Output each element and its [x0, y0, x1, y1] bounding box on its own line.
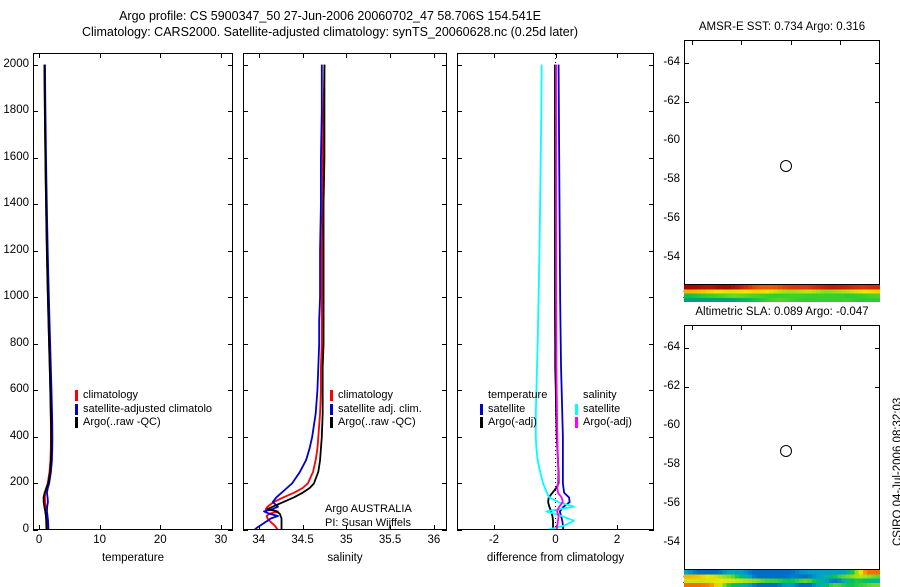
temperature-profile-xtick: [160, 525, 161, 530]
temperature-profile-yticklabel: 800: [0, 337, 29, 349]
legend-item[interactable]: Argo(-adj): [480, 416, 547, 430]
amsre-sst-map-yticklabel: -64: [0, 56, 680, 68]
temperature-panel[interactable]: 0102030020040060080010001200140016001800…: [0, 0, 900, 580]
amsre-sst-map-xtick: [692, 280, 693, 285]
difference-from-climatology-xtick-top: [494, 53, 495, 58]
salinity-profile-xlabel: salinity: [243, 552, 447, 564]
temperature-profile-ytick: [33, 158, 38, 159]
salinity-profile-ytick: [243, 204, 248, 205]
legend-heading: temperature: [480, 389, 547, 403]
temperature-profile-ytick-right: [228, 297, 233, 298]
altimetric-sla-map-ytick: [684, 543, 689, 544]
csiro-timestamp: CSIRO 04-Jul-2006 08:32:03: [892, 398, 900, 546]
legend-item[interactable]: climatology: [330, 389, 448, 403]
altimetric-sla-map-ytick-right: [875, 465, 880, 466]
temperature-profile-yticklabel: 1800: [0, 104, 29, 116]
altimetric-sla-map-xticklabel: 160: [810, 574, 870, 586]
temperature-profile-ytick-right: [228, 483, 233, 484]
temperature-profile-xtick-top: [39, 53, 40, 58]
temperature-profile-yticklabel: 1400: [0, 197, 29, 209]
salinity-profile-ytick-right: [442, 297, 447, 298]
temperature-profile-xtick: [100, 525, 101, 530]
salinity-profile-ytick: [243, 344, 248, 345]
salinity-profile-ytick-right: [442, 390, 447, 391]
salinity-profile-ytick: [243, 251, 248, 252]
legend-label: Argo(-adj): [488, 416, 537, 430]
amsre-sst-map-ytick: [684, 258, 689, 259]
legend-swatch: [330, 417, 333, 428]
salinity-profile-ytick: [243, 297, 248, 298]
temperature-profile-ytick: [33, 483, 38, 484]
legend-swatch: [480, 404, 483, 415]
series-salinity-argo-adj-: [556, 65, 563, 529]
salinity-profile-ytick-right: [442, 158, 447, 159]
series-argo-raw-qc-: [44, 65, 52, 529]
salinity-profile-ytick: [243, 65, 248, 66]
difference-from-climatology-xticklabel: 2: [587, 534, 647, 546]
salinity-profile-ytick: [243, 530, 248, 531]
temperature-profile-xtick: [221, 525, 222, 530]
altimetric-sla-map-ytick: [684, 387, 689, 388]
temperature-profile-yticklabel: 1200: [0, 244, 29, 256]
difference-from-climatology-ytick-right: [649, 297, 654, 298]
amsre-sst-map-xticklabel: 150: [711, 289, 771, 301]
temperature-profile-xtick-top: [100, 53, 101, 58]
difference-from-climatology-ytick: [457, 390, 462, 391]
difference-from-climatology-ytick-right: [649, 390, 654, 391]
amsre-sst-map-xtick-top: [692, 40, 693, 45]
temperature-profile-yticklabel: 1600: [0, 151, 29, 163]
legend-heading: salinity: [575, 389, 632, 403]
title-line-2: Climatology: CARS2000. Satellite-adjuste…: [0, 24, 660, 40]
legend-swatch: [75, 417, 78, 428]
argo-credit-line1: Argo AUSTRALIA: [325, 503, 445, 517]
temperature-profile-ytick: [33, 251, 38, 252]
legend-label: Argo(..raw -QC): [83, 416, 161, 430]
salinity-profile-ytick-right: [442, 437, 447, 438]
temperature-profile-plot-area: [34, 54, 232, 529]
altimetric-sla-map-ytick: [684, 465, 689, 466]
salinity-profile-legend: climatologysatellite adj. clim.Argo(..ra…: [330, 389, 448, 430]
amsre-sst-map-title: AMSR-E SST: 0.734 Argo: 0.316: [644, 21, 900, 33]
temperature-profile-xtick-top: [160, 53, 161, 58]
amsre-sst-map-xtick-top: [840, 40, 841, 45]
salinity-profile-ytick-right: [442, 111, 447, 112]
salinity-profile-xticklabel: 34: [229, 534, 289, 546]
altimetric-sla-map-yticklabel: -54: [0, 536, 680, 548]
sla-map-panel[interactable]: 145150155160-54-56-58-60-62-64Altimetric…: [0, 0, 900, 580]
temperature-profile-xticklabel: 20: [130, 534, 190, 546]
altimetric-sla-map-xtick-top: [840, 325, 841, 330]
amsre-sst-map-xtick: [791, 280, 792, 285]
amsre-sst-map-ytick: [684, 63, 689, 64]
difference-from-climatology-ytick-right: [649, 251, 654, 252]
legend-heading-label: temperature: [488, 389, 547, 403]
series-salinity-satellite: [536, 65, 574, 529]
salinity-profile-ytick: [243, 158, 248, 159]
temperature-profile-yticklabel: 0: [0, 523, 29, 535]
difference-from-climatology-xtick-top: [617, 53, 618, 58]
legend-swatch: [75, 404, 78, 415]
temperature-profile-yticklabel: 2000: [0, 58, 29, 70]
salinity-profile-xtick-top: [346, 53, 347, 58]
amsre-sst-map-xticklabel: 160: [810, 289, 870, 301]
amsre-sst-map-ytick-right: [875, 102, 880, 103]
difference-from-climatology-ytick: [457, 483, 462, 484]
difference-from-climatology-ytick-right: [649, 158, 654, 159]
legend-label: satellite-adjusted climatolo: [83, 403, 212, 417]
legend-item[interactable]: Argo(..raw -QC): [330, 416, 448, 430]
amsre-sst-map-profile-marker[interactable]: [780, 160, 792, 172]
amsre-sst-map-ytick: [684, 219, 689, 220]
altimetric-sla-map-ytick-right: [875, 504, 880, 505]
amsre-sst-map-ytick-right: [875, 180, 880, 181]
amsre-sst-map-ytick: [684, 141, 689, 142]
salinity-profile-xtick: [346, 525, 347, 530]
difference-from-climatology-xtick: [617, 525, 618, 530]
legend-heading-label: salinity: [583, 389, 617, 403]
amsre-sst-map-ytick-right: [875, 219, 880, 220]
amsre-sst-map-yticklabel: -56: [0, 212, 680, 224]
legend-swatch: [330, 390, 333, 401]
altimetric-sla-map-ytick-right: [875, 387, 880, 388]
temperature-profile-xtick-top: [221, 53, 222, 58]
legend-item[interactable]: Argo(-adj): [575, 416, 632, 430]
altimetric-sla-map-xticklabel: 145: [662, 574, 722, 586]
temperature-profile-ytick-right: [228, 390, 233, 391]
temperature-profile-ytick: [33, 65, 38, 66]
altimetric-sla-map-title: Altimetric SLA: 0.089 Argo: -0.047: [644, 306, 900, 318]
difference-from-climatology-ytick: [457, 437, 462, 438]
difference-from-climatology-ytick-right: [649, 483, 654, 484]
temperature-profile-ytick: [33, 530, 38, 531]
amsre-sst-map-xticklabel: 145: [662, 289, 722, 301]
legend-item[interactable]: satellite: [575, 403, 632, 417]
legend-heading-spacer: [575, 390, 578, 401]
salinity-profile-xticklabel: 35.5: [360, 534, 420, 546]
amsre-sst-map-ytick-right: [875, 141, 880, 142]
difference-from-climatology-ytick-right: [649, 204, 654, 205]
salinity-profile-plot-area: [244, 54, 446, 529]
salinity-profile-ytick-right: [442, 65, 447, 66]
difference-from-climatology-xticklabel: 0: [526, 534, 586, 546]
difference-from-climatology-xtick-top: [556, 53, 557, 58]
temperature-profile-xticklabel: 30: [191, 534, 251, 546]
legend-heading-spacer: [480, 390, 483, 401]
difference-from-climatology-ytick: [457, 204, 462, 205]
argo-credit-line2: PI: Susan Wijffels: [325, 517, 445, 531]
amsre-sst-map-xtick: [840, 280, 841, 285]
temperature-profile-yticklabel: 1000: [0, 290, 29, 302]
legend-item[interactable]: satellite: [480, 403, 547, 417]
legend-swatch: [575, 417, 578, 428]
altimetric-sla-map-yticklabel: -64: [0, 341, 680, 353]
legend-item[interactable]: satellite adj. clim.: [330, 403, 448, 417]
legend-swatch: [575, 404, 578, 415]
legend-swatch: [480, 417, 483, 428]
temperature-profile-xlabel: temperature: [33, 552, 233, 564]
temperature-profile-xtick: [39, 525, 40, 530]
temperature-profile-ytick-right: [228, 204, 233, 205]
legend-label: satellite: [583, 403, 620, 417]
altimetric-sla-map-xticklabel: 150: [711, 574, 771, 586]
salinity-profile-xticklabel: 35: [316, 534, 376, 546]
salinity-profile-xticklabel: 36: [404, 534, 464, 546]
difference-from-climatology-ytick: [457, 530, 462, 531]
temperature-profile-yticklabel: 600: [0, 383, 29, 395]
salinity-profile-xticklabel: 34.5: [273, 534, 333, 546]
temperature-profile-ytick: [33, 204, 38, 205]
amsre-sst-map-yticklabel: -54: [0, 251, 680, 263]
salinity-profile-xtick-top: [390, 53, 391, 58]
difference-from-climatology-plot-area: [458, 54, 653, 529]
temperature-profile-ytick: [33, 344, 38, 345]
temperature-profile-ytick-right: [228, 158, 233, 159]
difference-from-climatology-ytick-right: [649, 111, 654, 112]
temperature-profile-xticklabel: 10: [70, 534, 130, 546]
temperature-profile-yticklabel: 400: [0, 430, 29, 442]
amsre-sst-map-raster: [684, 285, 880, 302]
legend-label: climatology: [83, 389, 138, 403]
temperature-profile-ytick: [33, 437, 38, 438]
legend-label: climatology: [338, 389, 393, 403]
amsre-sst-map-xtick-top: [791, 40, 792, 45]
amsre-sst-map-ytick: [684, 180, 689, 181]
legend-label: Argo(..raw -QC): [338, 416, 416, 430]
legend-label: satellite: [488, 403, 525, 417]
altimetric-sla-map-xtick: [840, 565, 841, 570]
altimetric-sla-map-ytick-right: [875, 348, 880, 349]
sst-map-panel[interactable]: 145150155160-54-56-58-60-62-64AMSR-E SST…: [0, 0, 900, 580]
difference-from-climatology-ytick: [457, 251, 462, 252]
temperature-profile-legend: climatologysatellite-adjusted climatoloA…: [75, 389, 233, 430]
salinity-profile-ytick-right: [442, 204, 447, 205]
difference-from-climatology-ytick-right: [649, 437, 654, 438]
altimetric-sla-map-yticklabel: -58: [0, 458, 680, 470]
salinity-profile-xtick: [259, 525, 260, 530]
difference-from-climatology-axes-frame: [457, 53, 654, 530]
temperature-profile-ytick-right: [228, 111, 233, 112]
difference-from-climatology-ytick: [457, 297, 462, 298]
salinity-profile-ytick-right: [442, 483, 447, 484]
temperature-profile-xticklabel: 0: [9, 534, 69, 546]
series-climatology: [45, 65, 51, 529]
temperature-profile-axes-frame: [33, 53, 233, 530]
difference-panel[interactable]: -202difference from climatologytemperatu…: [0, 0, 900, 580]
legend-label: Argo(-adj): [583, 416, 632, 430]
altimetric-sla-map-xtick-top: [741, 325, 742, 330]
altimetric-sla-map-xticklabel: 155: [761, 574, 821, 586]
amsre-sst-map-ytick-right: [875, 258, 880, 259]
difference-from-climatology-ytick: [457, 344, 462, 345]
difference-from-climatology-ytick: [457, 158, 462, 159]
salinity-profile-ytick: [243, 390, 248, 391]
temperature-profile-ytick: [33, 390, 38, 391]
temperature-profile-ytick: [33, 111, 38, 112]
legend-item[interactable]: Argo(..raw -QC): [75, 416, 233, 430]
temperature-profile-ytick-right: [228, 437, 233, 438]
difference-legend-temperature: temperaturesatelliteArgo(-adj): [480, 389, 547, 430]
difference-legend-salinity: salinitysatelliteArgo(-adj): [575, 389, 632, 430]
temperature-profile-yticklabel: 200: [0, 476, 29, 488]
amsre-sst-map-xticklabel: 155: [761, 289, 821, 301]
series-argo-raw-qc-: [268, 65, 325, 529]
amsre-sst-map-yticklabel: -60: [0, 134, 680, 146]
altimetric-sla-map-yticklabel: -60: [0, 419, 680, 431]
altimetric-sla-map-yticklabel: -62: [0, 380, 680, 392]
altimetric-sla-map-yticklabel: -56: [0, 497, 680, 509]
amsre-sst-map-yticklabel: -62: [0, 95, 680, 107]
salinity-profile-xtick: [434, 525, 435, 530]
salinity-profile-xtick-top: [434, 53, 435, 58]
difference-from-climatology-xlabel: difference from climatology: [457, 552, 654, 564]
amsre-sst-map-ytick: [684, 102, 689, 103]
amsre-sst-map-xtick: [741, 280, 742, 285]
figure-title: Argo profile: CS 5900347_50 27-Jun-2006 …: [0, 8, 660, 40]
legend-swatch: [330, 404, 333, 415]
series-temperature-argo-adj-: [548, 65, 558, 529]
salinity-panel[interactable]: 3434.53535.536salinityclimatologysatelli…: [0, 0, 900, 580]
altimetric-sla-map-xtick-top: [692, 325, 693, 330]
altimetric-sla-map-xtick-top: [791, 325, 792, 330]
altimetric-sla-map-ytick: [684, 426, 689, 427]
amsre-sst-map-yticklabel: -58: [0, 173, 680, 185]
argo-credit: Argo AUSTRALIAPI: Susan Wijffels: [325, 503, 445, 530]
altimetric-sla-map-xtick: [692, 565, 693, 570]
legend-item[interactable]: satellite-adjusted climatolo: [75, 403, 233, 417]
difference-from-climatology-ytick: [457, 111, 462, 112]
salinity-profile-ytick: [243, 483, 248, 484]
amsre-sst-map-xtick-top: [741, 40, 742, 45]
difference-from-climatology-ytick-right: [649, 530, 654, 531]
series-climatology: [266, 65, 325, 529]
difference-from-climatology-xticklabel: -2: [464, 534, 524, 546]
legend-item[interactable]: climatology: [75, 389, 233, 403]
salinity-profile-xtick: [390, 525, 391, 530]
difference-from-climatology-ytick-right: [649, 65, 654, 66]
altimetric-sla-map-ytick: [684, 348, 689, 349]
title-line-1: Argo profile: CS 5900347_50 27-Jun-2006 …: [0, 8, 660, 24]
temperature-profile-ytick-right: [228, 251, 233, 252]
altimetric-sla-map-raster: [684, 570, 880, 587]
altimetric-sla-map-xtick: [791, 565, 792, 570]
series-satellite-adj-clim-: [254, 65, 321, 529]
difference-from-climatology-ytick: [457, 65, 462, 66]
temperature-profile-ytick-right: [228, 65, 233, 66]
legend-swatch: [75, 390, 78, 401]
salinity-profile-axes-frame: [243, 53, 447, 530]
amsre-sst-map-ytick-right: [875, 63, 880, 64]
difference-from-climatology-ytick-right: [649, 344, 654, 345]
difference-from-climatology-xtick: [556, 525, 557, 530]
altimetric-sla-map-ytick-right: [875, 426, 880, 427]
salinity-profile-xtick-top: [303, 53, 304, 58]
temperature-profile-ytick-right: [228, 530, 233, 531]
salinity-profile-ytick: [243, 111, 248, 112]
legend-label: satellite adj. clim.: [338, 403, 422, 417]
series-temperature-satellite: [559, 65, 570, 529]
series-satellite-adjusted-climatology: [45, 65, 52, 529]
salinity-profile-xtick-top: [259, 53, 260, 58]
altimetric-sla-map-ytick: [684, 504, 689, 505]
salinity-profile-ytick-right: [442, 344, 447, 345]
salinity-profile-ytick-right: [442, 530, 447, 531]
salinity-profile-ytick-right: [442, 251, 447, 252]
altimetric-sla-map-xtick: [741, 565, 742, 570]
altimetric-sla-map-profile-marker[interactable]: [780, 445, 792, 457]
salinity-profile-ytick: [243, 437, 248, 438]
altimetric-sla-map-ytick-right: [875, 543, 880, 544]
difference-from-climatology-xtick: [494, 525, 495, 530]
temperature-profile-ytick-right: [228, 344, 233, 345]
temperature-profile-ytick: [33, 297, 38, 298]
salinity-profile-xtick: [303, 525, 304, 530]
